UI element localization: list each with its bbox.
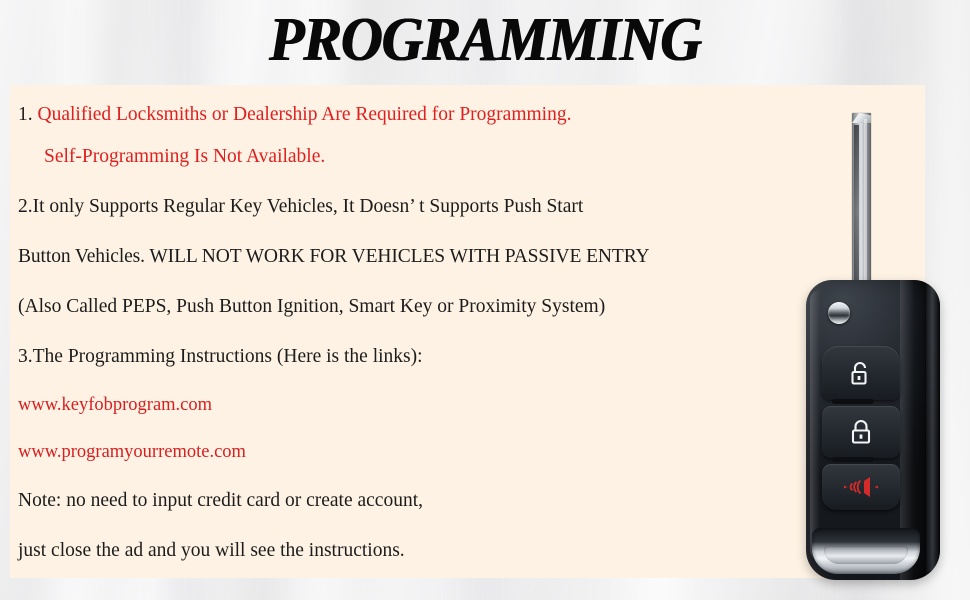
- lock-button[interactable]: [822, 406, 900, 458]
- panic-button[interactable]: [822, 464, 900, 510]
- key-fob-image: [800, 105, 945, 580]
- button-divider: [832, 399, 874, 404]
- key-blade-groove: [854, 125, 859, 297]
- page-title: PROGRAMMING: [34, 2, 936, 78]
- list-item: 2.It only Supports Regular Key Vehicles,…: [18, 182, 808, 232]
- list-item: 1. Qualified Locksmiths or Dealership Ar…: [18, 92, 808, 132]
- instructions-list: 1. Qualified Locksmiths or Dealership Ar…: [18, 92, 808, 576]
- link-keyfobprogram[interactable]: www.keyfobprogram.com: [18, 382, 808, 429]
- blade-release-button[interactable]: [828, 302, 850, 324]
- button-divider: [832, 457, 874, 462]
- note-line: Note: no need to input credit card or cr…: [18, 476, 808, 526]
- list-item: (Also Called PEPS, Push Button Ignition,…: [18, 282, 808, 332]
- unlock-button[interactable]: [822, 346, 900, 400]
- key-blade-highlight: [864, 119, 867, 299]
- unlock-padlock-icon: [848, 359, 874, 387]
- list-item: Self-Programming Is Not Available.: [18, 132, 808, 182]
- panic-alarm-icon: [840, 476, 882, 498]
- note-line: just close the ad and you will see the i…: [18, 526, 808, 576]
- lock-padlock-icon: [848, 418, 874, 446]
- list-item: 3.The Programming Instructions (Here is …: [18, 332, 808, 382]
- link-programyourremote[interactable]: www.programyourremote.com: [18, 429, 808, 476]
- list-item-number: 1.: [18, 104, 33, 125]
- body-highlight: [810, 290, 820, 560]
- body-edge: [925, 284, 940, 572]
- list-item: Button Vehicles. WILL NOT WORK FOR VEHIC…: [18, 232, 808, 282]
- key-fob-bottom-trim: [812, 528, 920, 574]
- programming-instructions-banner: PROGRAMMING 1. Qualified Locksmiths or D…: [0, 0, 970, 600]
- list-item-text: Qualified Locksmiths or Dealership Are R…: [38, 104, 572, 125]
